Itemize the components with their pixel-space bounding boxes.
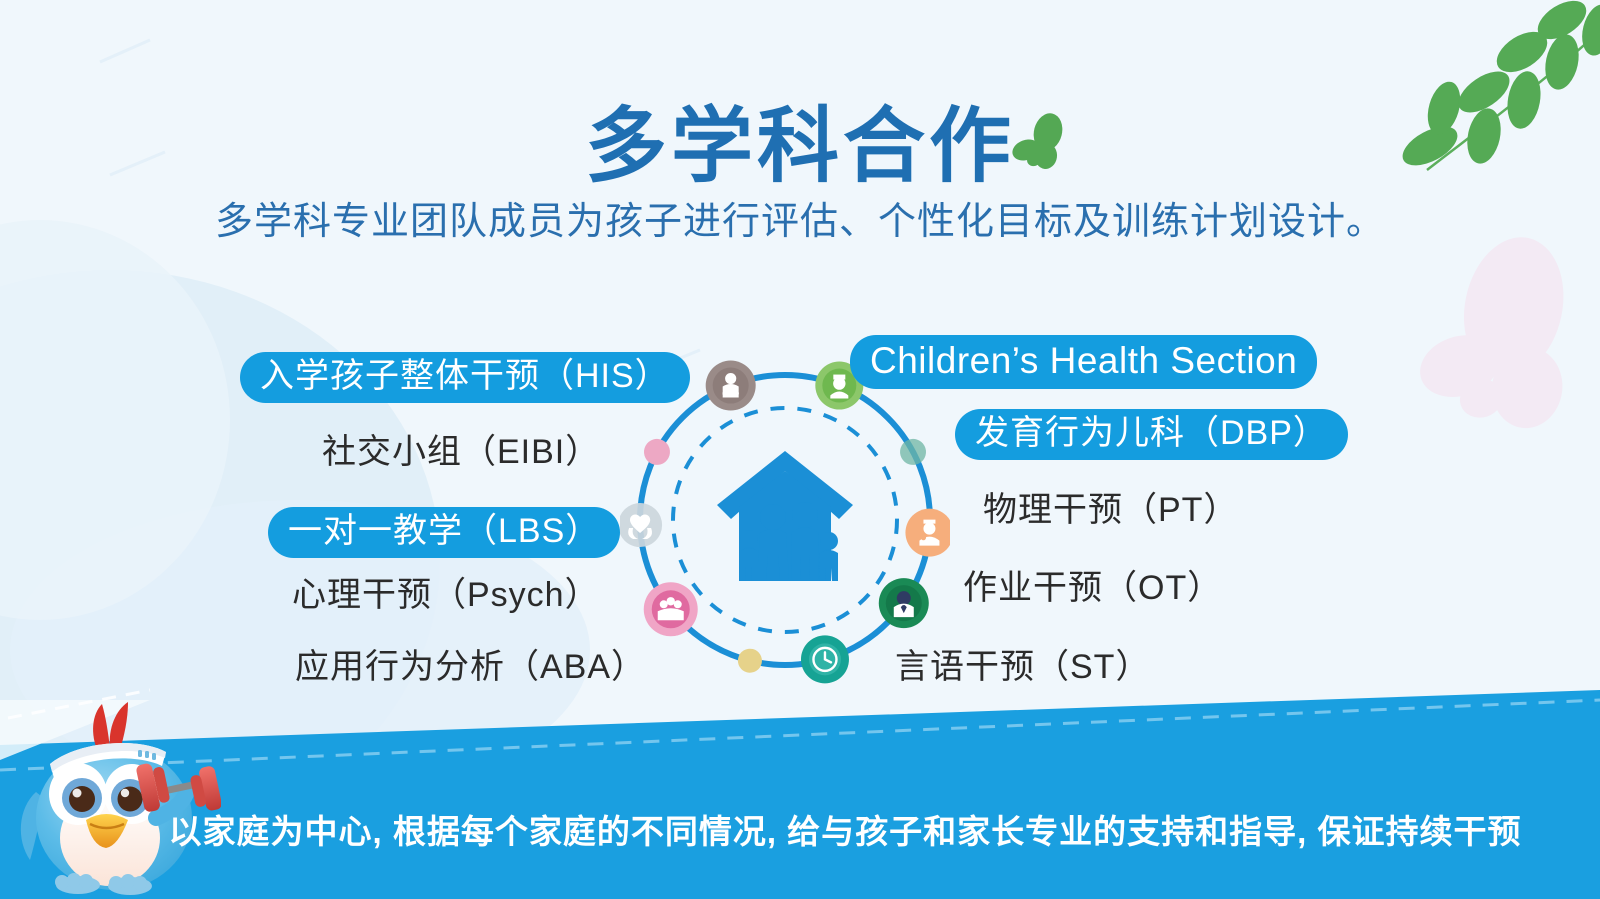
dot-teal-icon bbox=[895, 434, 930, 469]
banner-text: 以家庭为中心, 根据每个家庭的不同情况, 给与孩子和家长专业的支持和指导, 保证… bbox=[0, 805, 1600, 853]
label-pt[interactable]: 物理干预（PT） bbox=[983, 493, 1238, 527]
label-lbs[interactable]: 一对一教学（LBS） bbox=[268, 507, 620, 558]
bottom-banner: 以家庭为中心, 根据每个家庭的不同情况, 给与孩子和家长专业的支持和指导, 保证… bbox=[0, 679, 1600, 899]
clock-icon bbox=[801, 635, 849, 683]
label-ot[interactable]: 作业干预（OT） bbox=[963, 571, 1222, 605]
label-psych[interactable]: 心理干预（Psych） bbox=[292, 578, 600, 612]
butterfly-green-icon bbox=[1010, 112, 1072, 174]
family-house-icon bbox=[717, 451, 853, 581]
person-green-icon bbox=[879, 578, 929, 628]
dot-pink-icon bbox=[639, 434, 674, 469]
label-his[interactable]: 入学孩子整体干预（HIS） bbox=[240, 352, 690, 403]
label-dbp[interactable]: 发育行为儿科（DBP） bbox=[955, 409, 1348, 460]
doctor-orange-icon bbox=[905, 509, 950, 557]
label-childrens-health-section[interactable]: Children’s Health Section bbox=[850, 335, 1317, 389]
hands-heart-icon bbox=[620, 503, 662, 547]
label-eibi[interactable]: 社交小组（EIBI） bbox=[322, 435, 600, 469]
poster-canvas: 多学科合作 多学科专业团队成员为孩子进行评估、个性化目标及训练计划设计。 bbox=[0, 0, 1600, 899]
dot-yellow-icon bbox=[735, 646, 764, 675]
parent-child-icon bbox=[706, 361, 756, 411]
circle-diagram bbox=[620, 355, 950, 685]
family-group-icon bbox=[644, 582, 698, 636]
